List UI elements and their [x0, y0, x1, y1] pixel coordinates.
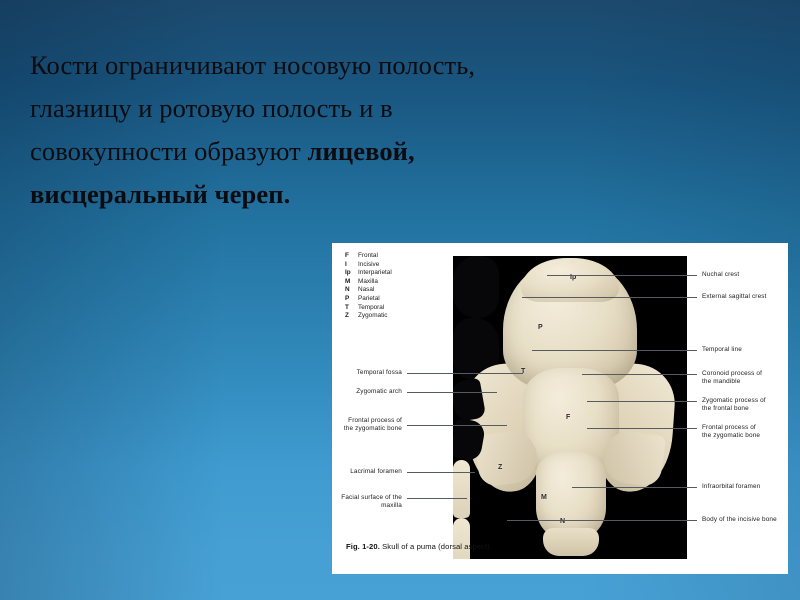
key-row: IpInterparietal — [345, 269, 392, 278]
label-temporal-fossa: Temporal fossa — [332, 369, 402, 377]
label-coronoid-process-line2: the mandible — [702, 378, 740, 386]
label-frontal-process-zygomatic-right-line1: Frontal process of — [702, 424, 756, 432]
leader-line-facial-surface-maxilla — [407, 498, 467, 499]
photo-letter-f: F — [566, 414, 570, 421]
label-zygomatic-process-frontal-line2: the frontal bone — [702, 405, 749, 413]
key-abbr: P — [345, 295, 358, 304]
label-zygomatic-arch: Zygomatic arch — [332, 388, 402, 396]
leader-line-frontal-process-zygomatic-right — [587, 428, 697, 429]
text-line-1: Кости ограничивают носовую полость, — [30, 44, 590, 87]
label-body-incisive-bone: Body of the incisive bone — [702, 516, 777, 524]
leader-line-frontal-process-zygomatic — [407, 425, 507, 426]
label-nuchal-crest: Nuchal crest — [702, 271, 739, 279]
figure-caption-text: Skull of a puma (dorsal aspect). — [380, 542, 492, 551]
key-row: PParietal — [345, 295, 392, 304]
key-name: Interparietal — [358, 269, 392, 278]
text-line-3: совокупности образуют лицевой, — [30, 130, 590, 173]
incisive-bone — [543, 528, 599, 556]
leader-line-coronoid-process — [582, 374, 697, 375]
label-frontal-process-zygomatic-line2: the zygomatic bone — [332, 425, 402, 433]
figure-panel: FFrontal IIncisive IpInterparietal MMaxi… — [332, 243, 788, 574]
key-name: Frontal — [358, 252, 378, 261]
leader-line-zygomatic-arch — [407, 392, 497, 393]
label-zygomatic-process-frontal-line1: Zygomatic process of — [702, 397, 766, 405]
photo-letter-p: P — [538, 324, 543, 331]
figure-caption: Fig. 1-20. Skull of a puma (dorsal aspec… — [346, 542, 492, 551]
key-abbr: T — [345, 304, 358, 313]
key-name: Temporal — [358, 304, 384, 313]
key-row: MMaxilla — [345, 278, 392, 287]
key-row: FFrontal — [345, 252, 392, 261]
leader-line-temporal-fossa — [407, 373, 523, 374]
leader-line-infraorbital-foramen — [572, 487, 697, 488]
key-abbr: I — [345, 261, 358, 270]
nasal-bone-left — [453, 460, 470, 518]
key-row: IIncisive — [345, 261, 392, 270]
skull-photograph — [453, 256, 687, 559]
photo-letter-m: M — [541, 494, 547, 501]
leader-line-body-incisive-bone — [507, 520, 697, 521]
text-line-2: глазницу и ротовую полость и в — [30, 87, 590, 130]
abbreviation-key: FFrontal IIncisive IpInterparietal MMaxi… — [345, 252, 392, 321]
label-facial-surface-maxilla: Facial surface of the maxilla — [332, 494, 402, 510]
key-name: Maxilla — [358, 278, 378, 287]
text-line-4: висцеральный череп. — [30, 173, 590, 216]
emphasis-text-1: лицевой, — [308, 136, 415, 166]
key-abbr: F — [345, 252, 358, 261]
leader-line-temporal-line — [532, 350, 697, 351]
key-row: TTemporal — [345, 304, 392, 313]
key-abbr: M — [345, 278, 358, 287]
nasal-bone-right — [453, 518, 470, 559]
key-abbr: Z — [345, 312, 358, 321]
key-name: Nasal — [358, 286, 374, 295]
label-temporal-line: Temporal line — [702, 346, 742, 354]
key-row: ZZygomatic — [345, 312, 392, 321]
label-external-sagittal-crest: External sagittal crest — [702, 293, 767, 301]
label-coronoid-process-line1: Coronoid process of — [702, 370, 762, 378]
label-lacrimal-foramen: Lacrimal foramen — [332, 468, 402, 476]
leader-line-external-sagittal-crest — [522, 297, 697, 298]
photo-letter-z: Z — [498, 464, 502, 471]
key-name: Incisive — [358, 261, 379, 270]
label-infraorbital-foramen: Infraorbital foramen — [702, 483, 760, 491]
slide-body-text: Кости ограничивают носовую полость, глаз… — [30, 44, 590, 216]
leader-line-zygomatic-process-frontal — [587, 401, 697, 402]
leader-line-lacrimal-foramen — [407, 472, 475, 473]
key-row: NNasal — [345, 286, 392, 295]
key-name: Parietal — [358, 295, 380, 304]
figure-caption-number: Fig. 1-20. — [346, 542, 380, 551]
key-abbr: Ip — [345, 269, 358, 278]
skull-illustration — [453, 256, 687, 559]
emphasis-text-2: висцеральный череп. — [30, 179, 290, 209]
label-frontal-process-zygomatic-right-line2: the zygomatic bone — [702, 432, 760, 440]
label-frontal-process-zygomatic-line1: Frontal process of — [332, 417, 402, 425]
leader-line-nuchal-crest — [547, 275, 697, 276]
key-abbr: N — [345, 286, 358, 295]
orbit-left — [453, 256, 499, 318]
key-name: Zygomatic — [358, 312, 387, 321]
